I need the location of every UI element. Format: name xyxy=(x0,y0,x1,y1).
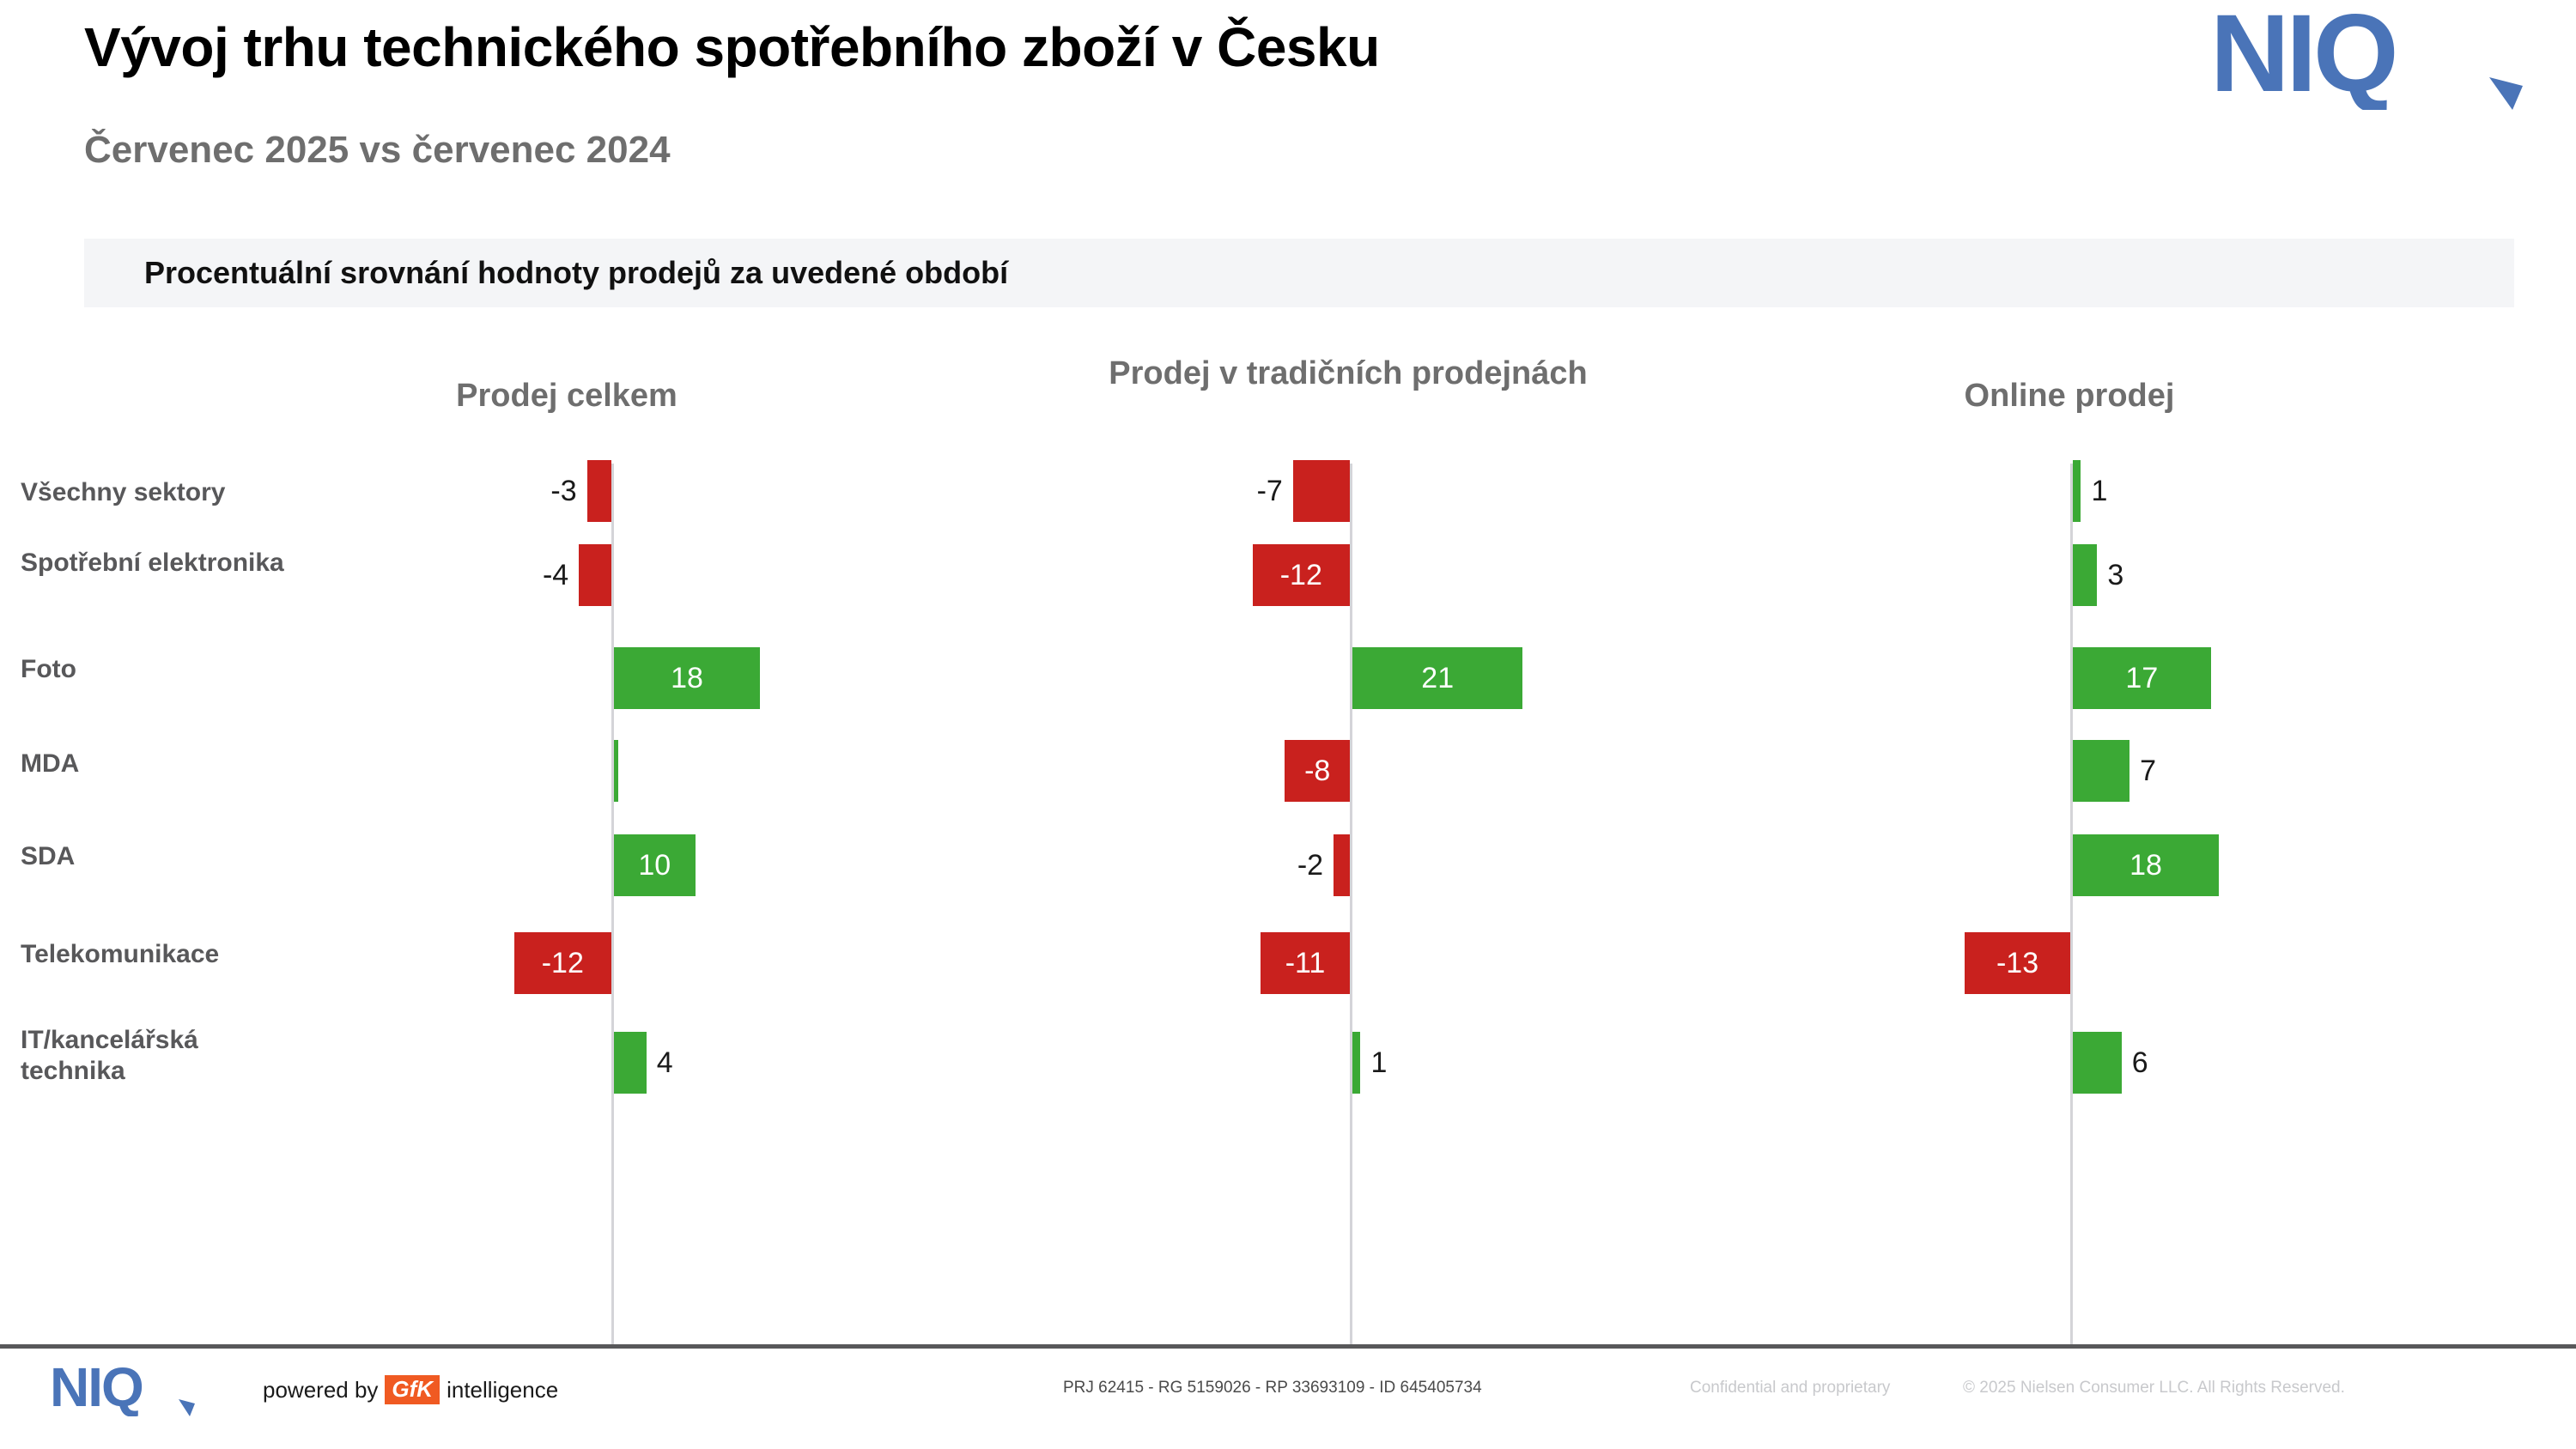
summary-banner: Procentuální srovnání hodnoty prodejů za… xyxy=(84,239,2514,307)
confidentiality-notice: Confidential and proprietary xyxy=(1690,1379,1890,1397)
copyright-notice: © 2025 Nielsen Consumer LLC. All Rights … xyxy=(1963,1379,2345,1397)
bar-0-4[interactable]: 10 xyxy=(614,834,696,896)
project-code: PRJ 62415 - RG 5159026 - RP 33693109 - I… xyxy=(1063,1379,1482,1397)
svg-text:NIQ: NIQ xyxy=(2210,7,2396,110)
summary-banner-text: Procentuální srovnání hodnoty prodejů za… xyxy=(144,255,1008,291)
bar-2-5[interactable]: -13 xyxy=(1965,932,2070,994)
bar-value-label: -12 xyxy=(542,947,584,980)
bar-value-label: 1 xyxy=(2091,475,2107,508)
bar-2-2[interactable]: 17 xyxy=(2073,647,2211,709)
bar-value-label: -8 xyxy=(1304,755,1330,788)
gfk-logo-icon: GfK xyxy=(385,1375,440,1404)
svg-text:NIQ: NIQ xyxy=(50,1363,143,1416)
page-footer: NIQ powered by GfK intelligence PRJ 6241… xyxy=(0,1349,2576,1449)
bar-1-1[interactable]: -12 xyxy=(1253,544,1350,606)
intelligence-label: intelligence xyxy=(447,1377,558,1404)
bar-value-label: 3 xyxy=(2107,559,2123,592)
zero-baseline-traditional xyxy=(1350,464,1352,1348)
bar-1-6[interactable]: 1 xyxy=(1352,1032,1360,1094)
bar-2-0[interactable]: 1 xyxy=(2073,460,2081,522)
page-subtitle: Červenec 2025 vs červenec 2024 xyxy=(84,129,671,172)
bar-1-4[interactable]: -2 xyxy=(1334,834,1350,896)
niq-logo-icon: NIQ xyxy=(2210,7,2545,110)
bar-0-1[interactable]: -4 xyxy=(579,544,611,606)
bar-value-label: -4 xyxy=(543,559,568,592)
row-label-foto: Foto xyxy=(21,654,304,685)
bar-1-0[interactable]: -7 xyxy=(1293,460,1350,522)
row-label-sda: SDA xyxy=(21,841,304,872)
bar-0-2[interactable]: 18 xyxy=(614,647,760,709)
bar-value-label: 7 xyxy=(2140,755,2156,788)
chart-plot-area: Všechny sektory Spotřební elektronika Fo… xyxy=(0,464,2576,1348)
zero-baseline-total xyxy=(611,464,614,1348)
bar-value-label: 1 xyxy=(1370,1046,1387,1080)
bar-value-label: -3 xyxy=(550,475,576,508)
bar-value-label: -7 xyxy=(1257,475,1283,508)
bar-0-3[interactable] xyxy=(614,740,618,802)
bar-2-1[interactable]: 3 xyxy=(2073,544,2097,606)
bar-1-2[interactable]: 21 xyxy=(1352,647,1522,709)
bar-0-6[interactable]: 4 xyxy=(614,1032,647,1094)
bar-value-label: 18 xyxy=(2129,849,2162,882)
powered-by-gfk: powered by GfK intelligence xyxy=(263,1375,558,1404)
column-header-total-sales: Prodej celkem xyxy=(326,378,807,415)
bar-0-0[interactable]: -3 xyxy=(587,460,611,522)
row-label-mda: MDA xyxy=(21,749,304,779)
bar-value-label: 21 xyxy=(1421,662,1454,695)
bar-2-6[interactable]: 6 xyxy=(2073,1032,2122,1094)
powered-by-label: powered by xyxy=(263,1377,378,1404)
bar-value-label: 6 xyxy=(2132,1046,2148,1080)
bar-value-label: -13 xyxy=(1996,947,2038,980)
niq-logo-footer-icon: NIQ xyxy=(50,1363,204,1416)
page-header: Vývoj trhu technického spotřebního zboží… xyxy=(0,0,2576,206)
bar-value-label: -11 xyxy=(1285,947,1326,980)
bar-2-4[interactable]: 18 xyxy=(2073,834,2219,896)
bar-2-3[interactable]: 7 xyxy=(2073,740,2129,802)
bar-value-label: -12 xyxy=(1280,559,1322,592)
row-label-it-kancelarska-technika: IT/kancelářská technika xyxy=(21,1025,304,1087)
bar-value-label: -2 xyxy=(1297,849,1323,882)
bar-value-label: 18 xyxy=(671,662,703,695)
column-header-traditional-sales: Prodej v tradičních prodejnách xyxy=(1073,355,1623,392)
bar-value-label: 17 xyxy=(2125,662,2158,695)
column-header-online-sales: Online prodej xyxy=(1820,378,2318,415)
bar-1-5[interactable]: -11 xyxy=(1261,932,1350,994)
row-label-spotrebni-elektronika: Spotřební elektronika xyxy=(21,548,304,579)
page-title: Vývoj trhu technického spotřebního zboží… xyxy=(84,15,1380,79)
row-label-vsechny-sektory: Všechny sektory xyxy=(21,477,304,508)
bar-1-3[interactable]: -8 xyxy=(1285,740,1350,802)
bar-value-label: 10 xyxy=(638,849,671,882)
footer-divider xyxy=(0,1344,2576,1349)
bar-value-label: 4 xyxy=(657,1046,673,1080)
row-label-telekomunikace: Telekomunikace xyxy=(21,939,304,970)
bar-0-5[interactable]: -12 xyxy=(514,932,611,994)
